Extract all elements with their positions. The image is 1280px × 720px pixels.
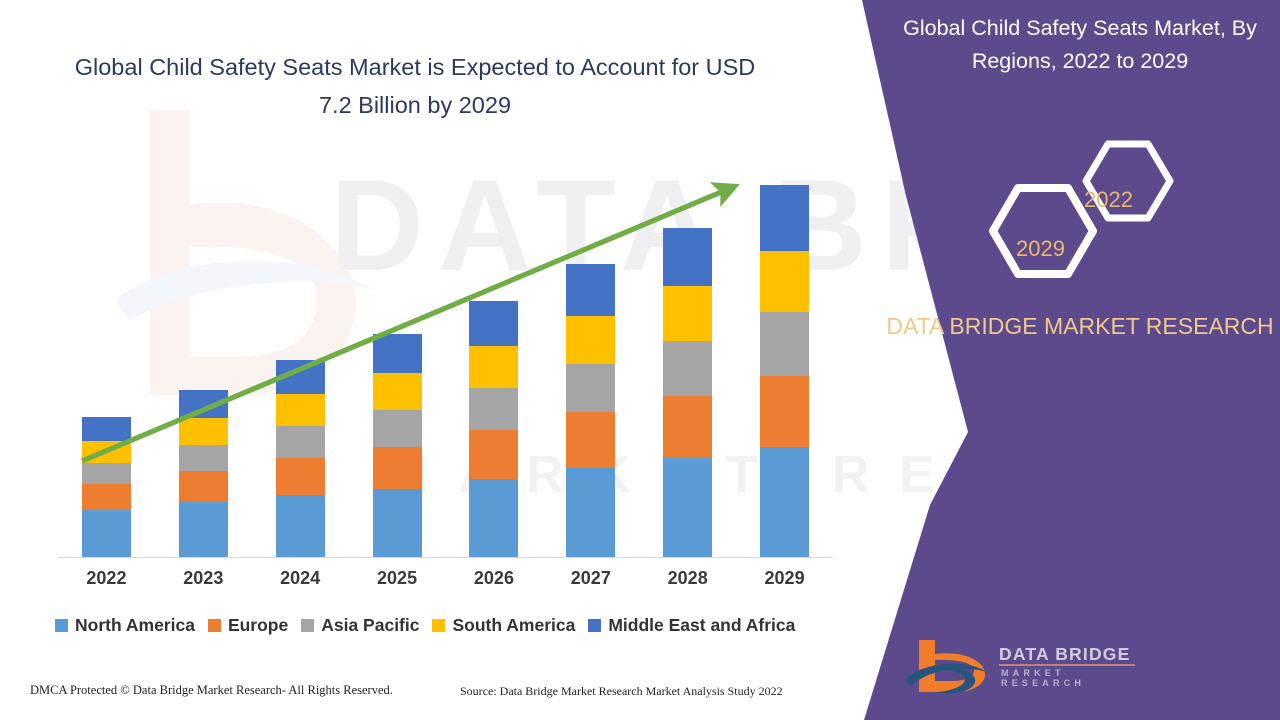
bar-segment-north-america[interactable]	[760, 447, 809, 558]
bar-segment-middle-east-and-africa[interactable]	[373, 334, 422, 373]
x-tick-2023: 2023	[155, 568, 251, 589]
bar-2025[interactable]	[373, 334, 422, 558]
hex-badge-2022: 2022	[1084, 187, 1133, 213]
bar-segment-south-america[interactable]	[469, 346, 518, 388]
chart-legend: North AmericaEuropeAsia PacificSouth Ame…	[55, 615, 845, 636]
legend-item-asia-pacific[interactable]: Asia Pacific	[301, 615, 419, 636]
bar-2023[interactable]	[179, 390, 228, 558]
bar-segment-middle-east-and-africa[interactable]	[566, 264, 615, 316]
bar-segment-asia-pacific[interactable]	[760, 312, 809, 375]
bar-segment-north-america[interactable]	[276, 495, 325, 558]
bar-segment-north-america[interactable]	[663, 458, 712, 558]
bar-segment-europe[interactable]	[82, 484, 131, 510]
footer-source: Source: Data Bridge Market Research Mark…	[460, 684, 783, 699]
bar-segment-middle-east-and-africa[interactable]	[663, 228, 712, 286]
bar-segment-south-america[interactable]	[566, 316, 615, 364]
x-axis-tick-labels: 20222023202420252026202720282029	[58, 568, 833, 598]
bar-segment-south-america[interactable]	[373, 373, 422, 410]
bar-segment-asia-pacific[interactable]	[82, 463, 131, 484]
bar-2022[interactable]	[82, 417, 131, 558]
hexagon-year-badges: 2022 2029	[980, 128, 1180, 288]
bar-segment-north-america[interactable]	[373, 489, 422, 558]
bar-segment-south-america[interactable]	[760, 251, 809, 313]
x-tick-2024: 2024	[252, 568, 348, 589]
panel-title: Global Child Safety Seats Market, By Reg…	[888, 12, 1272, 78]
bar-segment-europe[interactable]	[469, 430, 518, 478]
x-tick-2026: 2026	[446, 568, 542, 589]
bar-segment-middle-east-and-africa[interactable]	[469, 301, 518, 346]
x-tick-2029: 2029	[737, 568, 833, 589]
x-axis-line	[58, 557, 833, 558]
legend-item-middle-east-and-africa[interactable]: Middle East and Africa	[588, 615, 795, 636]
legend-swatch-north-america	[55, 619, 68, 632]
bar-segment-south-america[interactable]	[179, 418, 228, 445]
x-tick-2025: 2025	[349, 568, 445, 589]
bar-segment-europe[interactable]	[276, 458, 325, 495]
bar-segment-asia-pacific[interactable]	[373, 410, 422, 447]
legend-item-north-america[interactable]: North America	[55, 615, 195, 636]
bar-segment-north-america[interactable]	[469, 479, 518, 558]
bar-2028[interactable]	[663, 228, 712, 558]
stacked-bar-chart: 20222023202420252026202720282029	[0, 0, 860, 600]
legend-item-south-america[interactable]: South America	[432, 615, 575, 636]
legend-swatch-middle-east-and-africa	[588, 619, 601, 632]
bar-segment-north-america[interactable]	[566, 468, 615, 558]
bar-segment-europe[interactable]	[760, 376, 809, 447]
dbmr-logo: DATA BRIDGE MARKET RESEARCH	[895, 636, 1145, 698]
bar-segment-middle-east-and-africa[interactable]	[276, 360, 325, 394]
bar-segment-south-america[interactable]	[663, 286, 712, 340]
dbmr-logo-secondary: MARKET RESEARCH	[1001, 668, 1145, 688]
bar-2029[interactable]	[760, 185, 809, 558]
bar-segment-middle-east-and-africa[interactable]	[760, 185, 809, 251]
bar-segment-asia-pacific[interactable]	[276, 426, 325, 458]
dbmr-logo-rule	[999, 664, 1135, 666]
bar-segment-south-america[interactable]	[82, 441, 131, 463]
legend-label-asia-pacific: Asia Pacific	[321, 615, 419, 636]
legend-label-south-america: South America	[452, 615, 575, 636]
legend-swatch-asia-pacific	[301, 619, 314, 632]
x-tick-2027: 2027	[543, 568, 639, 589]
bar-segment-europe[interactable]	[373, 447, 422, 489]
chart-plot-area	[58, 170, 833, 558]
bar-segment-north-america[interactable]	[179, 502, 228, 558]
legend-label-middle-east-and-africa: Middle East and Africa	[608, 615, 795, 636]
bar-segment-asia-pacific[interactable]	[469, 388, 518, 430]
bar-segment-asia-pacific[interactable]	[566, 364, 615, 413]
legend-label-north-america: North America	[75, 615, 195, 636]
dbmr-logo-primary: DATA BRIDGE	[999, 644, 1130, 665]
bar-segment-south-america[interactable]	[276, 394, 325, 426]
bar-segment-middle-east-and-africa[interactable]	[82, 417, 131, 441]
legend-label-europe: Europe	[228, 615, 288, 636]
bar-segment-middle-east-and-africa[interactable]	[179, 390, 228, 418]
legend-item-europe[interactable]: Europe	[208, 615, 288, 636]
bar-segment-europe[interactable]	[179, 471, 228, 503]
bar-segment-asia-pacific[interactable]	[179, 445, 228, 471]
bar-segment-europe[interactable]	[566, 412, 615, 467]
hexagon-outline-icon	[980, 128, 1180, 288]
hex-badge-2029: 2029	[1016, 236, 1065, 262]
bar-segment-asia-pacific[interactable]	[663, 341, 712, 396]
legend-swatch-south-america	[432, 619, 445, 632]
panel-content: Global Child Safety Seats Market, By Reg…	[880, 0, 1280, 720]
footer-copyright: DMCA Protected © Data Bridge Market Rese…	[30, 683, 393, 698]
x-tick-2028: 2028	[640, 568, 736, 589]
bar-2027[interactable]	[566, 264, 615, 558]
panel-brand-name: DATA BRIDGE MARKET RESEARCH	[880, 308, 1280, 344]
legend-swatch-europe	[208, 619, 221, 632]
x-tick-2022: 2022	[58, 568, 154, 589]
bar-2024[interactable]	[276, 360, 325, 558]
bar-2026[interactable]	[469, 301, 518, 558]
slide-root: DATA BRIDGE MARKET RESEARCH Global Child…	[0, 0, 1280, 720]
bar-segment-north-america[interactable]	[82, 510, 131, 558]
bar-segment-europe[interactable]	[663, 396, 712, 458]
